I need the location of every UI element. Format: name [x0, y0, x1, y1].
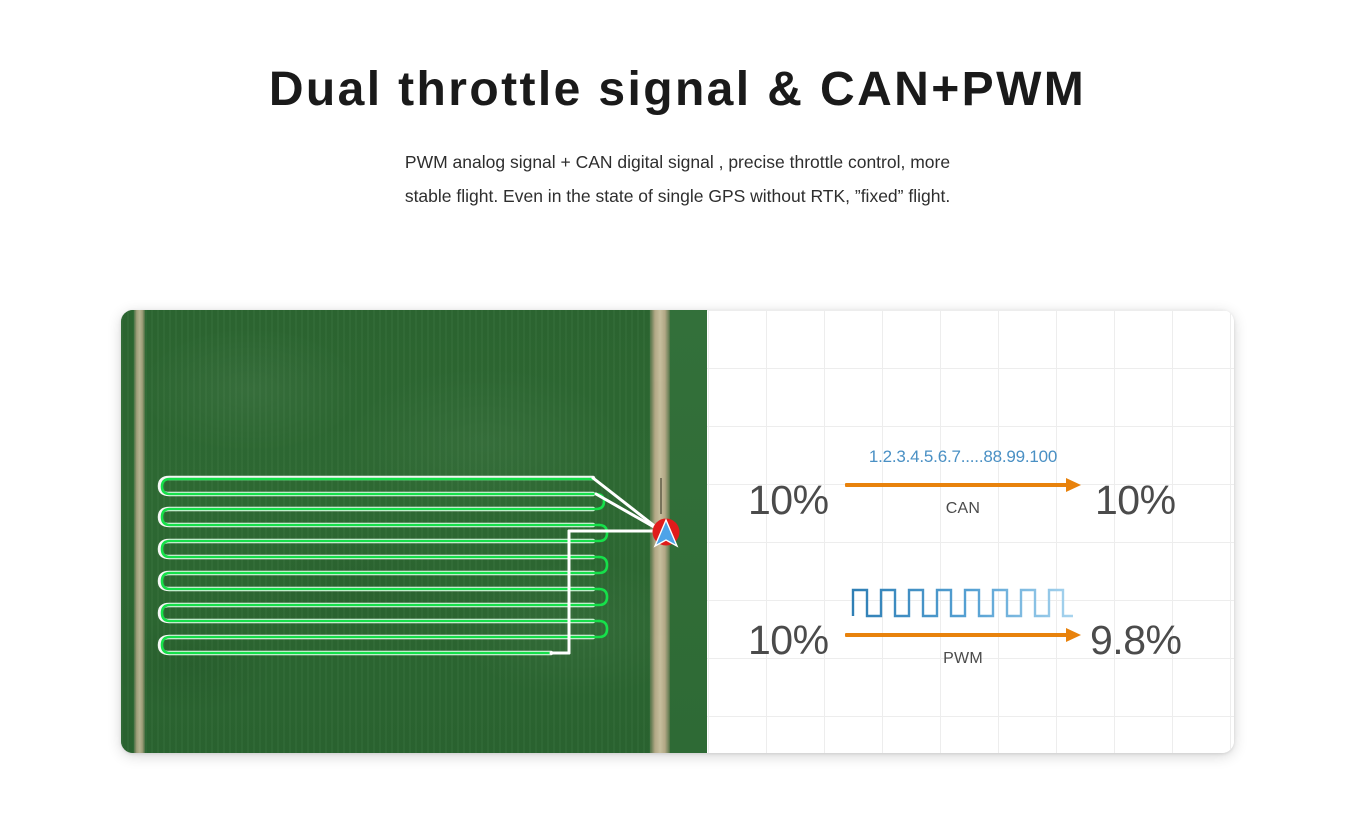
can-flow: 1.2.3.4.5.6.7.....88.99.100 CAN	[845, 448, 1081, 517]
can-output-value: 10%	[1095, 480, 1176, 521]
can-bus-label: CAN	[845, 501, 1081, 517]
pwm-flow: PWM	[845, 582, 1081, 667]
page-subtitle: PWM analog signal + CAN digital signal ,…	[298, 119, 1058, 213]
pwm-output-value: 9.8%	[1090, 620, 1181, 661]
pwm-square-wave	[845, 582, 1081, 618]
feature-card: 10% 1.2.3.4.5.6.7.....88.99.100 CAN 10% …	[121, 310, 1234, 753]
arrow-right-icon	[1066, 628, 1081, 642]
can-digital-sequence-label: 1.2.3.4.5.6.7.....88.99.100	[845, 448, 1081, 468]
subtitle-line-1: PWM analog signal + CAN digital signal ,…	[298, 145, 1058, 179]
subtitle-line-2: stable flight. Even in the state of sing…	[298, 179, 1058, 213]
page-root: Dual throttle signal & CAN+PWM PWM analo…	[0, 0, 1355, 816]
can-arrow	[845, 478, 1081, 492]
signal-diagram-panel: 10% 1.2.3.4.5.6.7.....88.99.100 CAN 10% …	[707, 310, 1234, 753]
pwm-arrow	[845, 628, 1081, 642]
drone-flight-path	[162, 479, 607, 653]
signal-row-can: 10% 1.2.3.4.5.6.7.....88.99.100 CAN 10%	[707, 428, 1234, 538]
can-arrow-line	[845, 483, 1069, 487]
page-title: Dual throttle signal & CAN+PWM	[0, 0, 1355, 119]
can-input-value: 10%	[748, 480, 829, 521]
pwm-input-value: 10%	[748, 620, 829, 661]
pwm-bus-label: PWM	[845, 651, 1081, 667]
flight-path-overlay	[121, 310, 707, 753]
square-wave-icon	[851, 584, 1075, 618]
header: Dual throttle signal & CAN+PWM PWM analo…	[0, 0, 1355, 213]
drone-position-marker	[653, 519, 680, 547]
satellite-map-panel	[121, 310, 707, 753]
pwm-arrow-line	[845, 633, 1069, 637]
signal-row-pwm: 10%	[707, 568, 1234, 678]
arrow-right-icon	[1066, 478, 1081, 492]
